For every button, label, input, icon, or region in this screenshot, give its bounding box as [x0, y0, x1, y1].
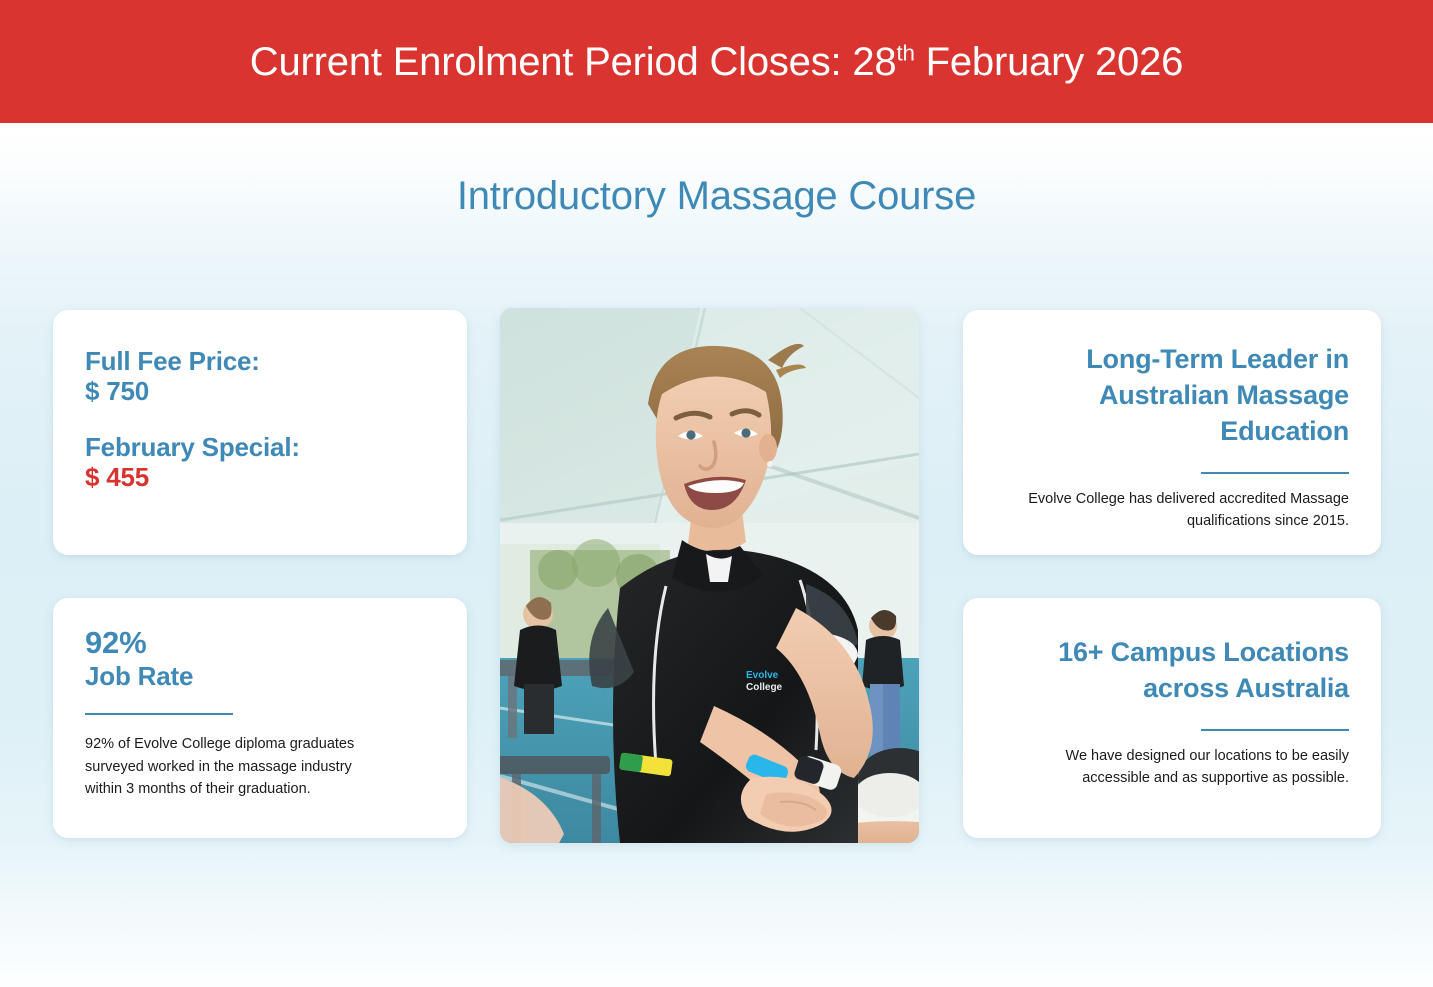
enrolment-deadline-text: Current Enrolment Period Closes: 28th Fe…	[250, 42, 1183, 82]
long-term-leader-divider	[1201, 472, 1349, 474]
page-title: Introductory Massage Course	[0, 172, 1433, 220]
banner-ordinal-suffix: th	[896, 40, 914, 65]
campus-locations-divider	[1201, 729, 1349, 731]
svg-text:College: College	[746, 682, 783, 693]
course-photo: Evolve College	[500, 308, 919, 843]
campus-locations-heading: 16+ Campus Locations across Australia	[995, 598, 1349, 707]
february-special-label: February Special:	[85, 432, 300, 462]
job-rate-card-body: 92% Job Rate 92% of Evolve College diplo…	[53, 598, 467, 838]
job-rate-stat: 92%	[85, 626, 390, 661]
promo-page: Current Enrolment Period Closes: 28th Fe…	[0, 0, 1433, 987]
job-rate-block: 92% Job Rate 92% of Evolve College diplo…	[85, 626, 390, 801]
full-fee-label: Full Fee Price:	[85, 346, 300, 376]
campus-locations-description: We have designed our locations to be eas…	[995, 745, 1349, 790]
job-rate-divider	[85, 713, 233, 715]
job-rate-card: 92% Job Rate 92% of Evolve College diplo…	[53, 598, 467, 838]
enrolment-deadline-banner: Current Enrolment Period Closes: 28th Fe…	[0, 0, 1433, 123]
long-term-leader-card-body: Long-Term Leader in Australian Massage E…	[963, 310, 1381, 555]
long-term-leader-heading: Long-Term Leader in Australian Massage E…	[995, 310, 1349, 450]
job-rate-description: 92% of Evolve College diploma graduates …	[85, 733, 390, 800]
february-special-value: $ 455	[85, 462, 300, 492]
long-term-leader-card: Long-Term Leader in Australian Massage E…	[963, 310, 1381, 555]
job-rate-stat-label: Job Rate	[85, 661, 390, 692]
fees-card: Full Fee Price: $ 750 February Special: …	[53, 310, 467, 555]
banner-suffix: February 2026	[915, 40, 1183, 84]
fees-card-body: Full Fee Price: $ 750 February Special: …	[53, 310, 467, 555]
fees-block: Full Fee Price: $ 750 February Special: …	[85, 346, 300, 493]
course-photo-illustration: Evolve College	[500, 308, 919, 843]
campus-locations-card-body: 16+ Campus Locations across Australia We…	[963, 598, 1381, 838]
full-fee-value: $ 750	[85, 376, 300, 406]
fees-spacer	[85, 406, 300, 432]
campus-locations-card: 16+ Campus Locations across Australia We…	[963, 598, 1381, 838]
banner-prefix: Current Enrolment Period Closes: 28	[250, 40, 897, 84]
long-term-leader-description: Evolve College has delivered accredited …	[995, 488, 1349, 533]
svg-text:Evolve: Evolve	[746, 670, 779, 681]
